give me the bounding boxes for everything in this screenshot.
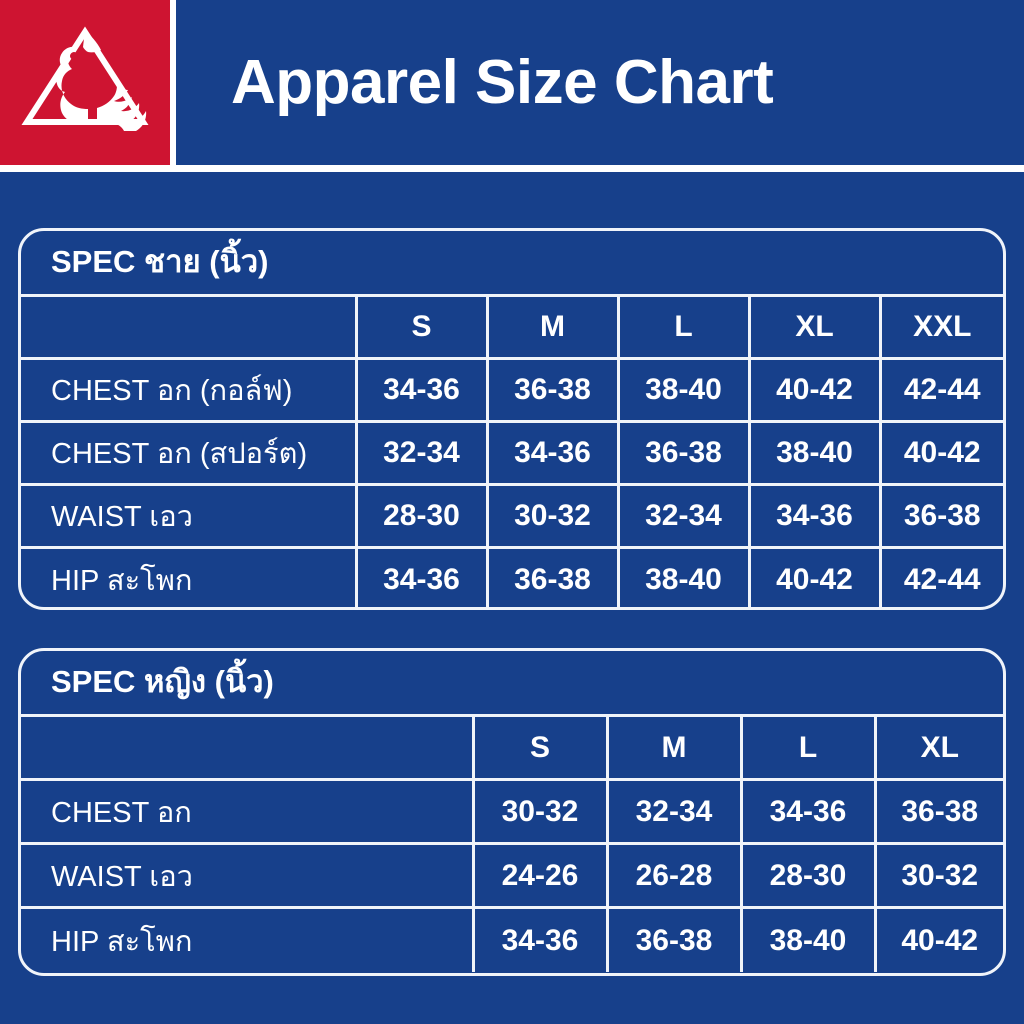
cell-hip-l: 38-40 (618, 548, 749, 610)
row-label-chest-sport: CHEST อก (สปอร์ต) (21, 422, 356, 485)
cell-hip-xxl: 42-44 (880, 548, 1003, 610)
row-label-hip: HIP สะโพก (21, 548, 356, 610)
cell-chest-sport-m: 34-36 (487, 422, 618, 485)
cell-hip-m: 36-38 (487, 548, 618, 610)
column-header-xl: XL (749, 297, 880, 359)
spec-table-women: SPEC หญิง (นิ้ว) S M L XL CHEST อก (18, 648, 1006, 976)
cell-waist-xxl: 36-38 (880, 485, 1003, 548)
column-header-m: M (607, 717, 741, 780)
cell-hip-l: 38-40 (741, 908, 875, 972)
spec-table-women-title: SPEC หญิง (นิ้ว) (21, 651, 1003, 717)
column-header-m: M (487, 297, 618, 359)
row-label-chest: CHEST อก (21, 780, 473, 844)
cell-waist-l: 32-34 (618, 485, 749, 548)
cell-chest-sport-xxl: 40-42 (880, 422, 1003, 485)
column-header-s: S (473, 717, 607, 780)
cell-waist-xl: 30-32 (875, 844, 1003, 908)
cell-chest-sport-l: 36-38 (618, 422, 749, 485)
spec-table-men: SPEC ชาย (นิ้ว) S M L XL XXL (18, 228, 1006, 610)
spec-table-men-grid: S M L XL XXL CHEST อก (กอล์ฟ) 34-36 36-3… (21, 297, 1003, 610)
rooster-triangle-logo-icon (19, 18, 151, 148)
cell-hip-m: 36-38 (607, 908, 741, 972)
column-header-l: L (618, 297, 749, 359)
title-band: Apparel Size Chart (176, 0, 1024, 165)
cell-chest-golf-xl: 40-42 (749, 359, 880, 422)
table-header-row: S M L XL XXL (21, 297, 1003, 359)
column-header-l: L (741, 717, 875, 780)
column-header-xxl: XXL (880, 297, 1003, 359)
corner-cell (21, 297, 356, 359)
size-chart-page: Apparel Size Chart SPEC ชาย (นิ้ว) S M L (0, 0, 1024, 1024)
row-label-hip: HIP สะโพก (21, 908, 473, 972)
table-row: CHEST อก (สปอร์ต) 32-34 34-36 36-38 38-4… (21, 422, 1003, 485)
cell-chest-golf-s: 34-36 (356, 359, 487, 422)
table-row: CHEST อก 30-32 32-34 34-36 36-38 (21, 780, 1003, 844)
corner-cell (21, 717, 473, 780)
table-row: WAIST เอว 28-30 30-32 32-34 34-36 36-38 (21, 485, 1003, 548)
table-header-row: S M L XL (21, 717, 1003, 780)
table-row: HIP สะโพก 34-36 36-38 38-40 40-42 42-44 (21, 548, 1003, 610)
cell-hip-xl: 40-42 (749, 548, 880, 610)
column-header-s: S (356, 297, 487, 359)
cell-hip-s: 34-36 (356, 548, 487, 610)
cell-chest-sport-xl: 38-40 (749, 422, 880, 485)
cell-waist-l: 28-30 (741, 844, 875, 908)
cell-chest-s: 30-32 (473, 780, 607, 844)
cell-chest-golf-m: 36-38 (487, 359, 618, 422)
spec-table-women-grid: S M L XL CHEST อก 30-32 32-34 34-36 36-3… (21, 717, 1003, 972)
cell-waist-m: 26-28 (607, 844, 741, 908)
cell-hip-xl: 40-42 (875, 908, 1003, 972)
table-row: HIP สะโพก 34-36 36-38 38-40 40-42 (21, 908, 1003, 972)
cell-chest-golf-l: 38-40 (618, 359, 749, 422)
cell-hip-s: 34-36 (473, 908, 607, 972)
row-label-chest-golf: CHEST อก (กอล์ฟ) (21, 359, 356, 422)
table-row: CHEST อก (กอล์ฟ) 34-36 36-38 38-40 40-42… (21, 359, 1003, 422)
cell-chest-m: 32-34 (607, 780, 741, 844)
cell-chest-sport-s: 32-34 (356, 422, 487, 485)
cell-chest-l: 34-36 (741, 780, 875, 844)
cell-waist-xl: 34-36 (749, 485, 880, 548)
cell-chest-xl: 36-38 (875, 780, 1003, 844)
cell-waist-s: 28-30 (356, 485, 487, 548)
cell-waist-s: 24-26 (473, 844, 607, 908)
column-header-xl: XL (875, 717, 1003, 780)
row-label-waist: WAIST เอว (21, 485, 356, 548)
cell-waist-m: 30-32 (487, 485, 618, 548)
row-label-waist: WAIST เอว (21, 844, 473, 908)
page-title: Apparel Size Chart (176, 52, 773, 114)
brand-logo-box (0, 0, 170, 165)
cell-chest-golf-xxl: 42-44 (880, 359, 1003, 422)
table-row: WAIST เอว 24-26 26-28 28-30 30-32 (21, 844, 1003, 908)
page-header: Apparel Size Chart (0, 0, 1024, 172)
spec-table-men-title: SPEC ชาย (นิ้ว) (21, 231, 1003, 297)
